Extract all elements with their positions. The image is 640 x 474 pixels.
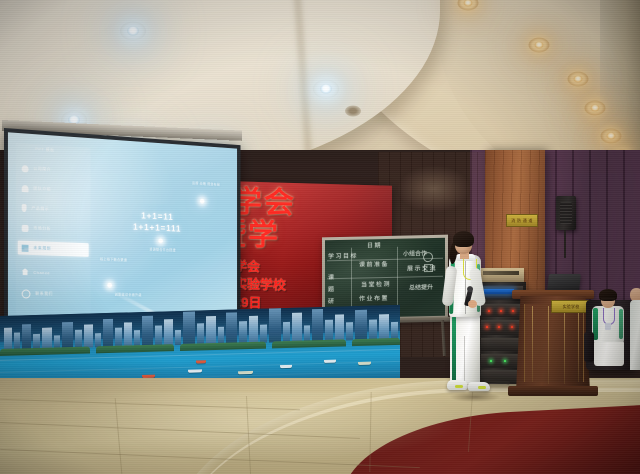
rack-led-indicator [511,326,513,328]
mural-building [62,322,73,348]
mural-building [164,319,173,345]
mural-boat [188,369,202,372]
slide-node-dot [107,283,112,288]
slide-node-label: 线上线下融合渠道 [100,257,127,263]
mural-building [206,316,216,344]
rack-led-indicator [500,310,502,312]
mural-treeline [0,346,90,356]
mural-building [115,328,122,347]
chalk-text: 总结提升 [409,284,433,293]
mural-treeline [96,344,174,353]
podium-trim [532,306,533,382]
slide-nav-label: Chance [33,269,50,274]
mural-building [142,316,153,346]
slide-nav-label: 产品展示 [31,205,49,212]
mural-building [218,327,224,344]
chalk-text: 作 业 布 置 [359,295,388,304]
mural-building [355,310,367,340]
mural-treeline [180,342,266,351]
mural-building [124,322,132,346]
chalk-text: 题 [328,286,334,294]
chalk-divider [327,276,443,279]
slide-nav-item-3: 市场分析 [18,221,89,238]
mural-building [335,314,344,340]
shoe-accent [455,385,463,388]
id-badge [605,323,611,330]
mural-building [379,314,389,339]
mural-building [312,309,323,341]
mural-treeline [352,338,400,346]
slide-nav-label: 团队介绍 [33,186,51,193]
mural-building [249,316,258,343]
slide-nav-label: 联系我们 [35,291,53,297]
mural-building [269,308,281,342]
podium-trim [548,306,549,384]
chalk-circle [423,252,433,262]
mural-building [14,332,20,349]
bottle-icon [22,204,27,212]
glasses-icon [601,298,615,302]
exit-sign-plaque: 消 防 通 道 [506,214,538,227]
mural-building [391,322,398,339]
mural-building [197,323,204,344]
slide-node-dot [158,238,162,243]
mural-building [369,319,377,339]
projection-screen: PPT 模板 公司简介 团队介绍 产品展示 市场分析 未来规划 [4,128,240,329]
slide-nav-item-4-active: 未来规划 [18,241,89,257]
wall-speaker [556,196,576,230]
slide-node-label: 品牌 战略 规划布局 [192,181,220,187]
mural-building [42,328,52,349]
mural-building [260,325,267,343]
person-icon [22,165,29,172]
presenter-leg-seam [464,336,465,384]
seated-attendee-legs [594,340,624,366]
trophy-icon [22,184,29,191]
mural-building [292,313,302,342]
slide-nav-label: 市场分析 [33,225,51,232]
exit-sign-text: 消 防 通 道 [511,218,532,224]
mural-boat [196,360,206,363]
mural-building [239,321,247,343]
mural-building [84,324,93,347]
projected-slide: PPT 模板 公司简介 团队介绍 产品展示 市场分析 未来规划 [8,132,237,325]
mural-building [33,334,40,349]
slide-formula-2: 1+1+1=111 [133,222,181,235]
chair-armrest [584,332,594,362]
rack-led-indicator [486,326,488,328]
slide-nav-item-6: 联系我们 [18,286,89,301]
presenter-shoe-right [468,382,490,391]
banner-subline-2: 实验学校 [234,275,286,293]
podium-trim [564,306,565,384]
mural-building [75,330,82,348]
thumb-icon [22,224,29,231]
tracksuit-stripe [619,309,623,339]
chalk-square [424,264,433,272]
home-icon [22,268,29,275]
podium-front-panel [524,304,584,382]
slide-brand-label: PPT 模板 [35,146,54,153]
mural-building [103,319,113,347]
rack-unit [481,338,523,351]
mural-treeline [272,339,346,348]
amplifier-display [484,289,514,294]
chalk-text: 当 堂 检 测 [361,281,390,290]
mural-building [226,312,237,343]
rack-unit [481,354,523,368]
rack-led-indicator [490,360,492,362]
mural-boat [280,365,292,368]
podium-base [508,386,598,396]
mural-building [4,328,12,350]
slide-node-label: 创新驱动全面升级 [115,293,142,298]
chalk-text: 日 期 [367,242,381,250]
mural-building [183,312,195,345]
mural-boat [238,371,253,374]
presenter-shadow [449,392,501,402]
chalk-text: 研 [328,298,334,306]
wood-panel-highlight [398,166,470,212]
chalk-text: 课 前 准 备 [359,261,388,270]
slide-node-dot [200,199,204,204]
podium-nameplate: 实验学校 [551,300,591,313]
slide-formula-1: 1+1=11 [141,211,173,223]
presenter-shoe-left [447,380,468,390]
presenter-hand [468,300,477,308]
podium-trim [578,306,579,382]
mural-building [22,324,31,349]
clock-icon [22,289,31,298]
rack-led-indicator [488,310,490,312]
rack-led-indicator [504,360,506,362]
mural-building [175,330,181,345]
tracksuit-stripe [452,316,456,382]
rack-led-indicator [498,326,500,328]
mural-building [325,320,333,341]
auditorium-photo: 消 防 通 道 学学会 暨学 学会 实验学校 29日 日 期 学 习 目 标 课… [0,0,640,474]
speaker-cable [564,230,566,258]
presenter-hair [453,231,474,247]
bar-chart-icon [22,244,29,251]
slide-node-label: 资源整合平台搭建 [149,248,175,254]
slide-nav-label: 公司简介 [33,166,51,173]
mural-boat [324,360,336,363]
mural-building [346,322,353,340]
mural-boat [358,362,371,365]
podium-nameplate-text: 实验学校 [563,304,580,310]
mural-building [304,325,310,341]
mural-building [155,325,162,345]
rack-led-indicator [512,310,514,312]
slide-nav-label: 未来规划 [33,245,51,252]
mural-building [134,330,140,346]
mural-building [283,322,290,342]
partial-attendee-body [630,300,640,370]
shoe-accent [478,386,486,389]
slide-nav-item-5: Chance [18,264,89,280]
